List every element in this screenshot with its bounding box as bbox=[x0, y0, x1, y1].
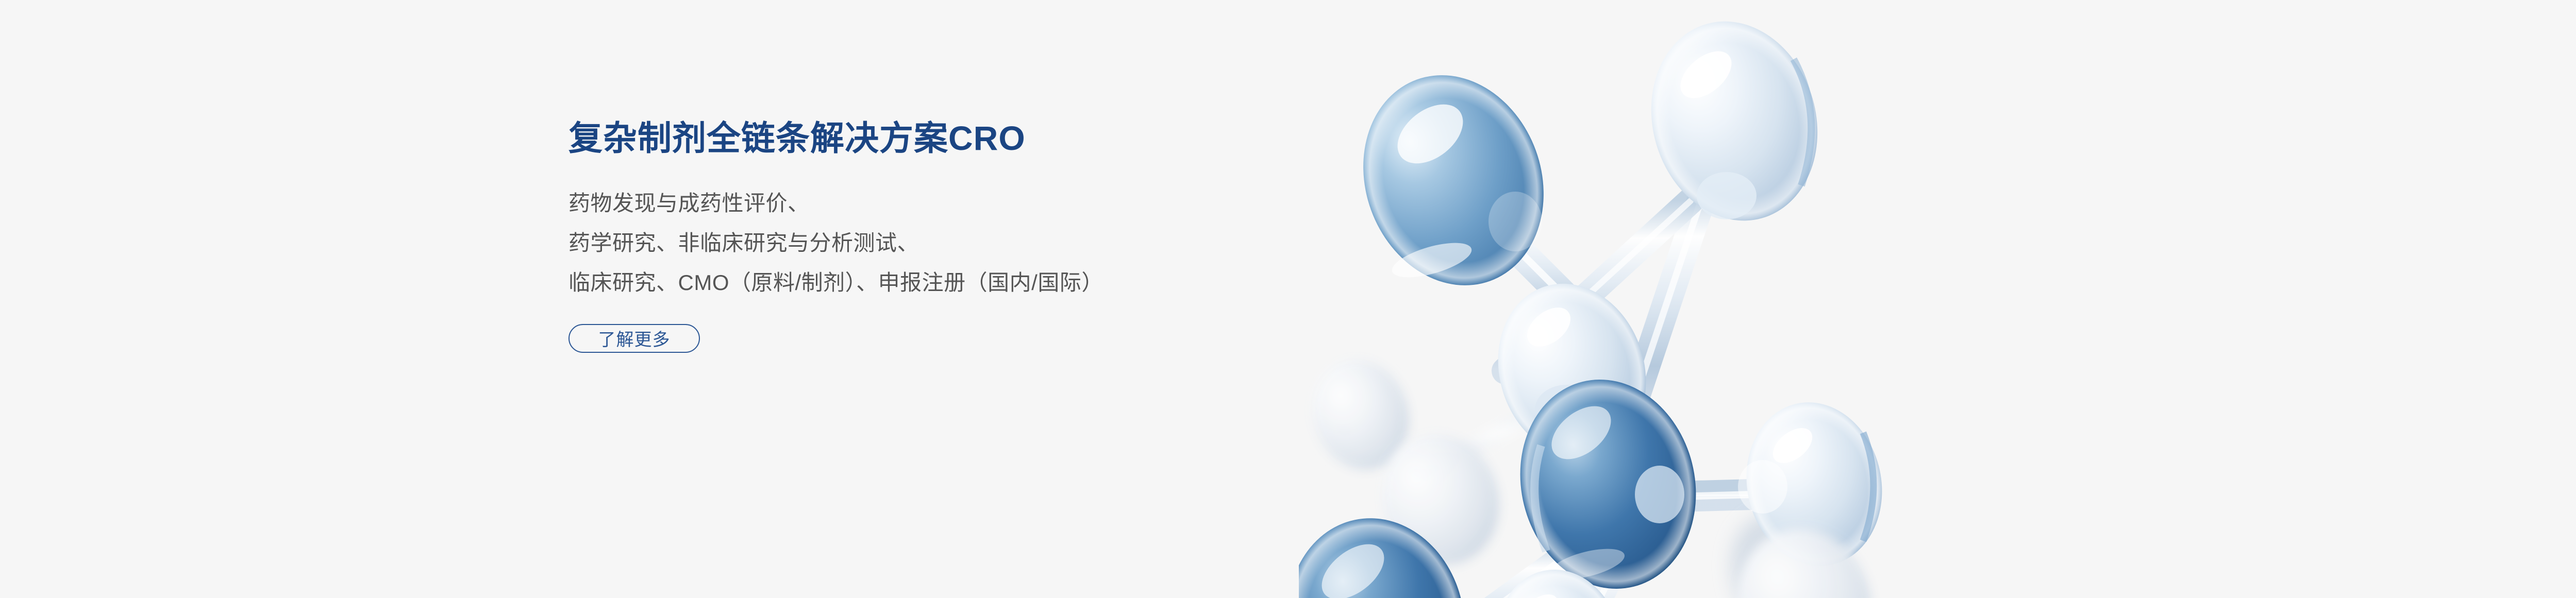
learn-more-button[interactable]: 了解更多 bbox=[568, 324, 700, 353]
atom-lower-right-pale bbox=[1720, 514, 1888, 598]
atom-center-deep-blue bbox=[1498, 361, 1717, 598]
hero-copy: 复杂制剂全链条解决方案CRO 药物发现与成药性评价、 药学研究、非临床研究与分析… bbox=[568, 119, 1445, 353]
cta-container: 了解更多 bbox=[568, 324, 1445, 353]
molecule-illustration bbox=[1299, 0, 2330, 598]
atom-bottom-glass bbox=[1483, 558, 1635, 598]
atom-right-glass bbox=[1732, 389, 1897, 578]
page-title: 复杂制剂全链条解决方案CRO bbox=[568, 119, 1445, 158]
molecule-soft-shadows bbox=[1713, 499, 1854, 598]
subtitle-line-1: 药物发现与成药性评价、 bbox=[568, 183, 1445, 223]
hero-banner: 复杂制剂全链条解决方案CRO 药物发现与成药性评价、 药学研究、非临床研究与分析… bbox=[0, 0, 2576, 598]
subtitle-list: 药物发现与成药性评价、 药学研究、非临床研究与分析测试、 临床研究、CMO（原料… bbox=[568, 183, 1445, 302]
atom-mid-left-glass bbox=[1476, 264, 1668, 477]
atom-top-glass bbox=[1628, 2, 1841, 241]
subtitle-line-3: 临床研究、CMO（原料/制剂）、申报注册（国内/国际） bbox=[568, 263, 1445, 302]
atom-bottom-left-deep-blue bbox=[1299, 502, 1483, 598]
subtitle-line-2: 药学研究、非临床研究与分析测试、 bbox=[568, 223, 1445, 263]
